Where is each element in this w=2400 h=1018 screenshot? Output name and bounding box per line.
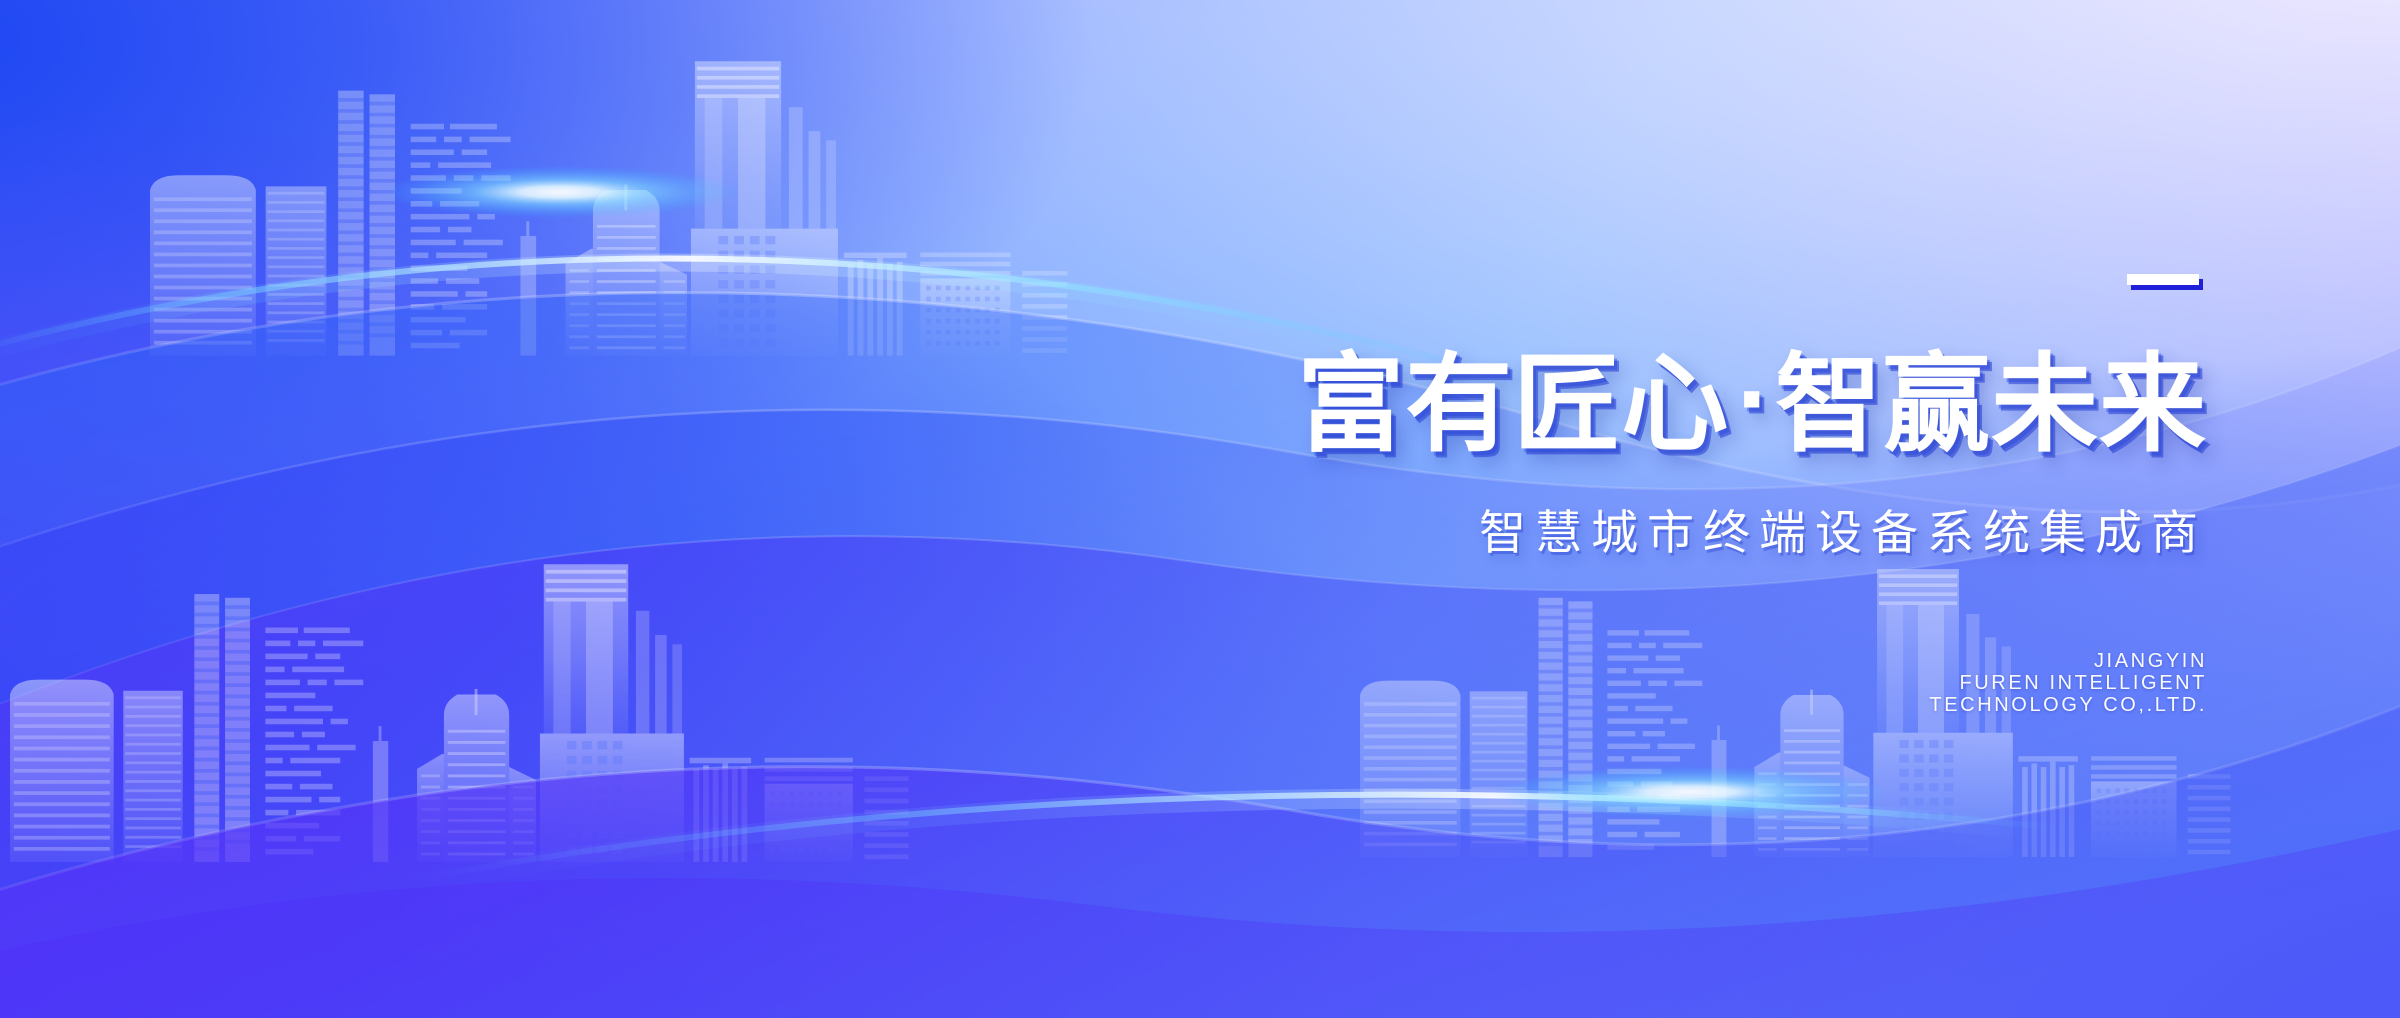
glow-hotspot-lower	[1490, 766, 1890, 818]
marketing-banner: 富有匠心·智赢未来 智慧城市终端设备系统集成商 JIANGYIN FUREN I…	[0, 0, 2400, 1018]
glow-hotspot-upper	[380, 166, 740, 218]
decorative-artwork-layer	[0, 0, 2400, 1018]
